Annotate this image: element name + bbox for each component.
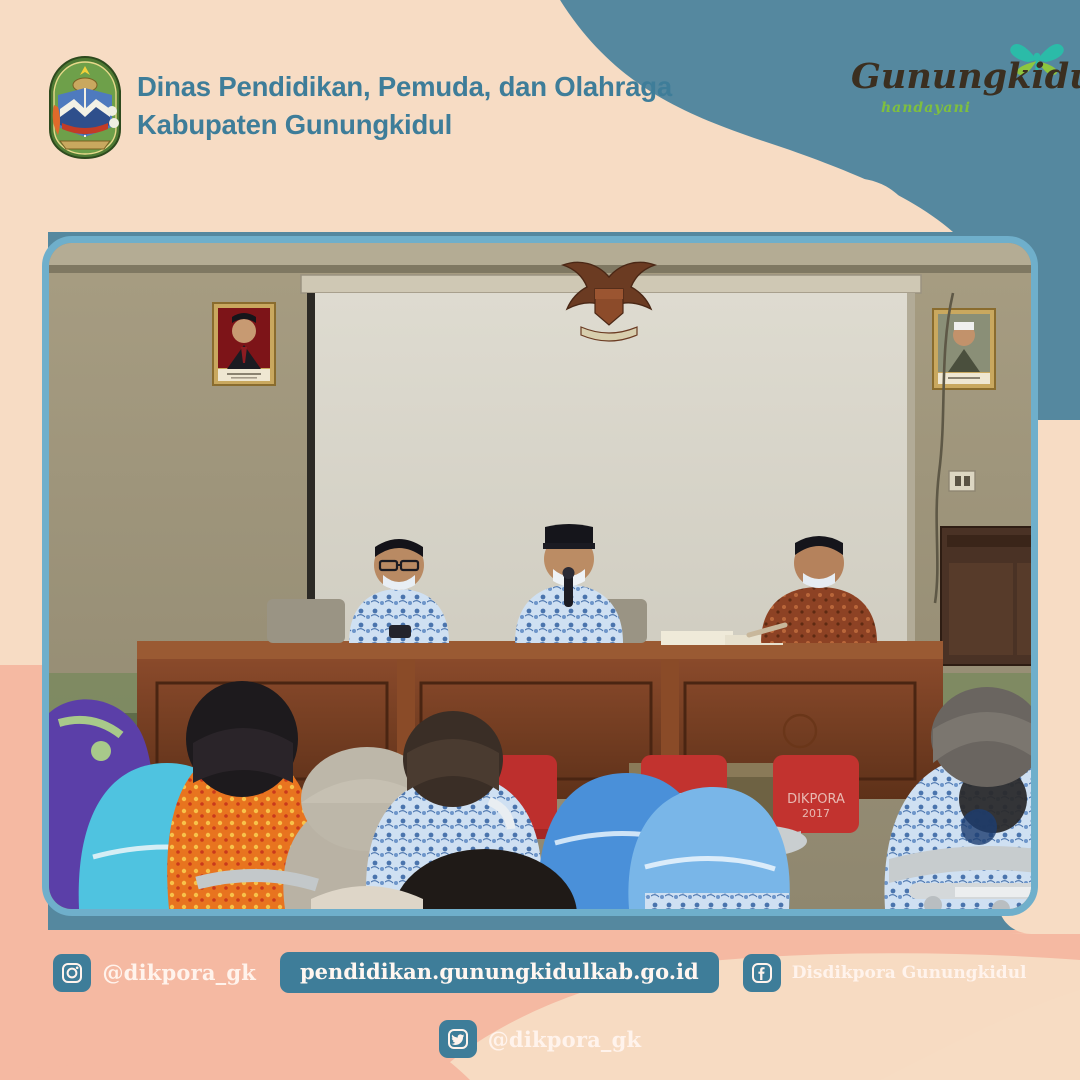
twitter-handle: @dikpora_gk [488, 1027, 642, 1052]
website-url-pill[interactable]: pendidikan.gunungkidulkab.go.id [280, 952, 719, 993]
poster-canvas: Dinas Pendidikan, Pemuda, dan Olahraga K… [0, 0, 1080, 1080]
svg-text:DIKPORA: DIKPORA [787, 792, 845, 807]
facebook-entry[interactable]: Disdikpora Gunungkidul [743, 954, 1027, 992]
footer-row-1: @dikpora_gk pendidikan.gunungkidulkab.go… [0, 952, 1080, 993]
regency-crest-icon [44, 55, 126, 160]
vice-president-portrait [933, 309, 995, 389]
title-line-2: Kabupaten Gunungkidul [137, 106, 757, 144]
president-portrait [213, 303, 275, 385]
twitter-icon[interactable] [439, 1020, 477, 1058]
panel-chair [267, 599, 345, 643]
instagram-entry[interactable]: @dikpora_gk [53, 954, 256, 992]
brand-wordmark: Gunungkidul [851, 56, 1051, 97]
papers [661, 631, 733, 645]
svg-text:2017: 2017 [802, 807, 830, 820]
instagram-handle: @dikpora_gk [102, 960, 256, 985]
brand-tagline: handayani [881, 100, 971, 116]
twitter-entry[interactable]: @dikpora_gk [439, 1020, 642, 1058]
footer-social-bar: @dikpora_gk pendidikan.gunungkidulkab.go… [0, 930, 1080, 1080]
peci-cap [545, 524, 593, 543]
wooden-cabinet [941, 519, 1031, 665]
page-title: Dinas Pendidikan, Pemuda, dan Olahraga K… [137, 68, 757, 144]
instagram-icon[interactable] [53, 954, 91, 992]
facebook-icon[interactable] [743, 954, 781, 992]
event-photo: DIKPORA 2017 DIKPORA 2017 [42, 236, 1038, 916]
footer-row-2: @dikpora_gk [0, 1020, 1080, 1058]
gunungkidul-brandmark: Gunungkidul handayani [851, 34, 1066, 126]
wall-socket [949, 471, 975, 491]
facebook-page: Disdikpora Gunungkidul [792, 963, 1027, 983]
bg-salmon-left-strip [0, 665, 48, 932]
title-line-1: Dinas Pendidikan, Pemuda, dan Olahraga [137, 71, 672, 102]
bg-cream-left-strip [0, 232, 48, 665]
poster-header: Dinas Pendidikan, Pemuda, dan Olahraga K… [0, 0, 1080, 210]
red-chair: DIKPORA 2017 [773, 755, 859, 833]
